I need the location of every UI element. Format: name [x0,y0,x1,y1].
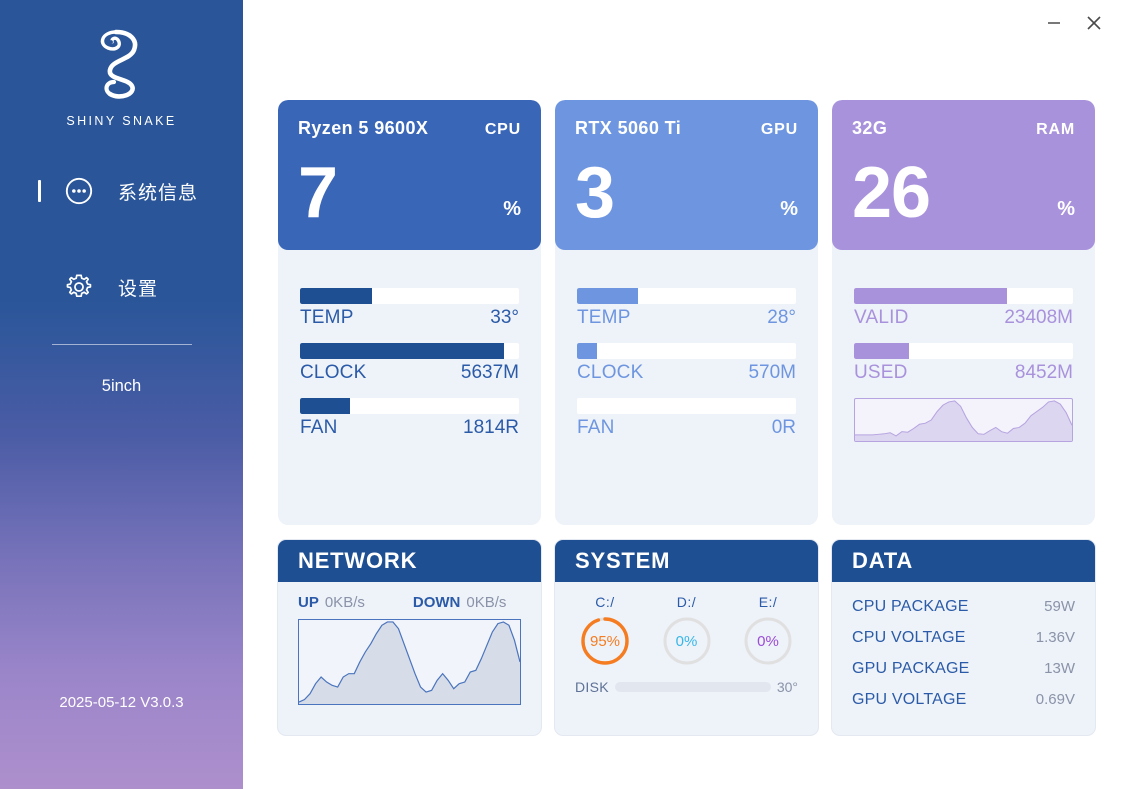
stat-temp: TEMP 28° [577,288,796,329]
screen-size-label: 5inch [0,377,243,396]
stat-fill [577,288,638,304]
stat-label: TEMP [577,307,631,329]
drive-label: D:/ [677,594,696,610]
stat-value: 570M [748,362,796,384]
stat-value: 28° [767,307,796,329]
data-value: 1.36V [1036,629,1075,646]
metric-header: Ryzen 5 9600X CPU 7 % [278,100,541,250]
stat-label: TEMP [300,307,354,329]
data-value: 59W [1044,598,1075,615]
stat-label: USED [854,362,908,384]
drive-value: 0% [661,615,713,667]
metric-header: 32G RAM 26 % [832,100,1095,250]
stat-value: 23408M [1004,307,1073,329]
disk-label: DISK [575,679,609,695]
metric-unit: % [503,198,521,227]
drive-value: 0% [742,615,794,667]
data-key: CPU VOLTAGE [852,629,966,647]
stat-label: VALID [854,307,909,329]
metric-model: Ryzen 5 9600X [298,118,428,139]
disk-value: 30° [777,679,798,695]
stat-value: 8452M [1015,362,1073,384]
sidebar-nav: 系统信息 设置 [0,162,243,316]
active-indicator [38,180,41,202]
data-row: GPU VOLTAGE 0.69V [852,691,1075,722]
stat-fan: FAN 0R [577,398,796,439]
panel-title: NETWORK [298,548,417,574]
metric-card-ram[interactable]: 32G RAM 26 % VALID 2 [832,100,1095,525]
drive-gauge-c[interactable]: C:/ 95% [579,594,631,667]
metric-unit: % [1057,198,1075,227]
titlebar [1037,0,1125,46]
stat-value: 33° [490,307,519,329]
stat-clock: CLOCK 570M [577,343,796,384]
data-key: GPU PACKAGE [852,660,970,678]
metric-stats: VALID 23408M USED 8452M [832,250,1095,442]
metric-kind: GPU [761,121,798,139]
network-up-value: 0KB/s [325,594,365,611]
sidebar-item-system-info[interactable]: 系统信息 [0,162,243,220]
stat-used: USED 8452M [854,343,1073,384]
sidebar-divider [52,344,192,345]
stat-clock: CLOCK 5637M [300,343,519,384]
gauge-ring: 0% [742,615,794,667]
disk-temperature-row: DISK 30° [575,679,798,695]
panel-title: SYSTEM [575,548,670,574]
stat-fill [854,288,1007,304]
close-icon[interactable] [1077,8,1111,38]
metric-stats: TEMP 28° CLOCK 570M [555,250,818,453]
stat-track [300,398,519,414]
stat-label: FAN [577,417,615,439]
data-key: GPU VOLTAGE [852,691,967,709]
drive-gauge-e[interactable]: E:/ 0% [742,594,794,667]
data-value: 13W [1044,660,1075,677]
network-chart [298,619,521,705]
data-row: CPU PACKAGE 59W [852,598,1075,629]
stat-value: 5637M [461,362,519,384]
metric-card-row: Ryzen 5 9600X CPU 7 % TEMP [278,100,1095,525]
metric-kind: RAM [1036,121,1075,139]
stat-track [854,288,1073,304]
sidebar-item-label: 系统信息 [118,178,198,205]
drive-gauge-d[interactable]: D:/ 0% [661,594,713,667]
panel-body: CPU PACKAGE 59W CPU VOLTAGE 1.36V GPU PA… [832,582,1095,722]
gauge-ring: 0% [661,615,713,667]
metric-kind: CPU [485,121,521,139]
data-row: CPU VOLTAGE 1.36V [852,629,1075,660]
stat-value: 1814R [463,417,519,439]
panel-network[interactable]: NETWORK UP 0KB/s DOWN 0KB/s [278,540,541,735]
ram-sparkline-svg [855,399,1072,441]
version-label: 2025-05-12 V3.0.3 [0,694,243,711]
network-up-label: UP [298,594,319,611]
snake-logo-icon [86,26,158,104]
panel-header: NETWORK [278,540,541,582]
panel-header: SYSTEM [555,540,818,582]
stat-fill [854,343,909,359]
disk-track [615,682,771,692]
metric-value: 3 [575,159,614,227]
drive-label: E:/ [759,594,778,610]
panel-header: DATA [832,540,1095,582]
stat-track [854,343,1073,359]
panel-system[interactable]: SYSTEM C:/ 95% [555,540,818,735]
metric-card-gpu[interactable]: RTX 5060 Ti GPU 3 % TEMP [555,100,818,525]
drive-gauges: C:/ 95% D:/ [575,594,798,667]
brand-block: SHINY SNAKE [0,26,243,128]
gear-icon [62,270,96,304]
drive-value: 95% [579,615,631,667]
metric-model: RTX 5060 Ti [575,118,681,139]
stat-fan: FAN 1814R [300,398,519,439]
stat-track [577,343,796,359]
stat-track [577,288,796,304]
stat-track [300,288,519,304]
stat-fill [577,343,597,359]
panel-body: UP 0KB/s DOWN 0KB/s [278,582,541,705]
main-content: Ryzen 5 9600X CPU 7 % TEMP [243,0,1125,789]
panel-row: NETWORK UP 0KB/s DOWN 0KB/s [278,540,1095,735]
metric-stats: TEMP 33° CLOCK 5637M [278,250,541,453]
data-value: 0.69V [1036,691,1075,708]
stat-track [577,398,796,414]
sidebar-item-settings[interactable]: 设置 [0,258,243,316]
stat-label: CLOCK [577,362,643,384]
data-key: CPU PACKAGE [852,598,969,616]
stat-valid: VALID 23408M [854,288,1073,329]
network-down-value: 0KB/s [466,594,506,611]
metric-header: RTX 5060 Ti GPU 3 % [555,100,818,250]
brand-name: SHINY SNAKE [66,114,176,128]
network-chart-svg [299,620,520,704]
gauge-ring: 95% [579,615,631,667]
metric-model: 32G [852,118,887,139]
stat-fill [300,398,350,414]
data-row: GPU PACKAGE 13W [852,660,1075,691]
sidebar: SHINY SNAKE 系统信息 [0,0,243,789]
stat-fill [300,288,372,304]
stat-value: 0R [772,417,796,439]
network-down-label: DOWN [413,594,461,611]
metric-card-cpu[interactable]: Ryzen 5 9600X CPU 7 % TEMP [278,100,541,525]
stat-fill [300,343,504,359]
stat-label: FAN [300,417,338,439]
panel-title: DATA [852,548,913,574]
panel-body: C:/ 95% D:/ [555,582,818,695]
metric-value: 26 [852,159,930,227]
ram-sparkline-chart [854,398,1073,442]
metric-value: 7 [298,159,337,227]
minimize-icon[interactable] [1037,8,1071,38]
circle-dots-icon [62,174,96,208]
stat-label: CLOCK [300,362,366,384]
data-rows: CPU PACKAGE 59W CPU VOLTAGE 1.36V GPU PA… [852,594,1075,722]
panel-data[interactable]: DATA CPU PACKAGE 59W CPU VOLTAGE 1.36V [832,540,1095,735]
stat-temp: TEMP 33° [300,288,519,329]
sidebar-item-label: 设置 [118,274,158,301]
stat-track [300,343,519,359]
metric-unit: % [780,198,798,227]
network-rates: UP 0KB/s DOWN 0KB/s [298,594,521,611]
drive-label: C:/ [595,594,614,610]
app-window: SHINY SNAKE 系统信息 [0,0,1125,789]
